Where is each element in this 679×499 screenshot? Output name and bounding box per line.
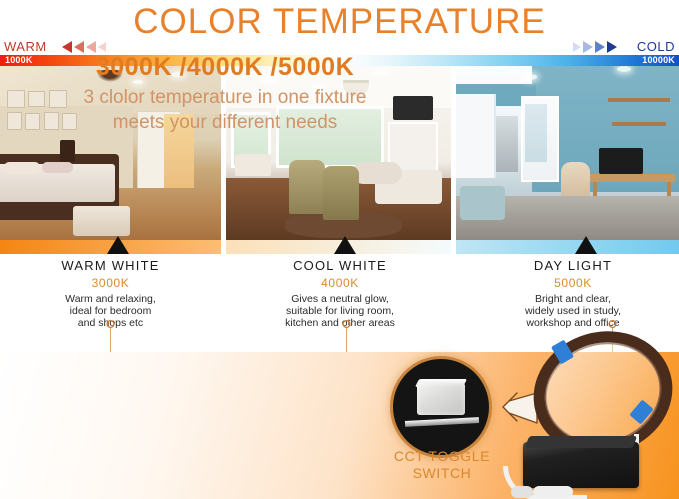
color-temperature-infographic: COLOR TEMPERATURE WARM COLD 1000K 10000K — [0, 0, 679, 499]
tagline-text: 3 clolor temperature in one fixture meet… — [28, 85, 422, 135]
tagline-line-1: 3 clolor temperature in one fixture — [28, 85, 422, 110]
caption-kelvin: 5000K — [478, 276, 668, 290]
room-photo-day-light — [456, 66, 679, 240]
tagline-line-2: meets your different needs — [28, 110, 422, 135]
pointer-triangle-warm-icon — [107, 236, 129, 254]
caption-name: DAY LIGHT — [478, 258, 668, 273]
cold-end-label: COLD — [637, 39, 675, 54]
kelvin-min-label: 1000K — [5, 55, 33, 65]
cct-toggle-switch-closeup — [393, 359, 489, 455]
led-downlight-fixture-image — [505, 330, 679, 499]
pointer-triangle-cool-icon — [334, 236, 356, 254]
caption-kelvin: 4000K — [245, 276, 435, 290]
caption-kelvin: 3000K — [18, 276, 203, 290]
page-title: COLOR TEMPERATURE — [0, 2, 679, 42]
pointer-triangle-daylight-icon — [575, 236, 597, 254]
connector-plug — [533, 486, 573, 498]
color-band-daylight — [456, 240, 679, 254]
warm-end-label: WARM — [4, 39, 47, 54]
caption-name: WARM WHITE — [18, 258, 203, 273]
warm-arrows-icon — [60, 40, 106, 54]
cold-arrows-icon — [573, 40, 619, 54]
kelvin-options-heading: 3000K /4000K /5000K — [60, 53, 390, 82]
kelvin-max-label: 10000K — [642, 55, 675, 65]
cct-toggle-switch-label: CCT TOGGLE SWITCH — [376, 448, 508, 482]
caption-name: COOL WHITE — [245, 258, 435, 273]
